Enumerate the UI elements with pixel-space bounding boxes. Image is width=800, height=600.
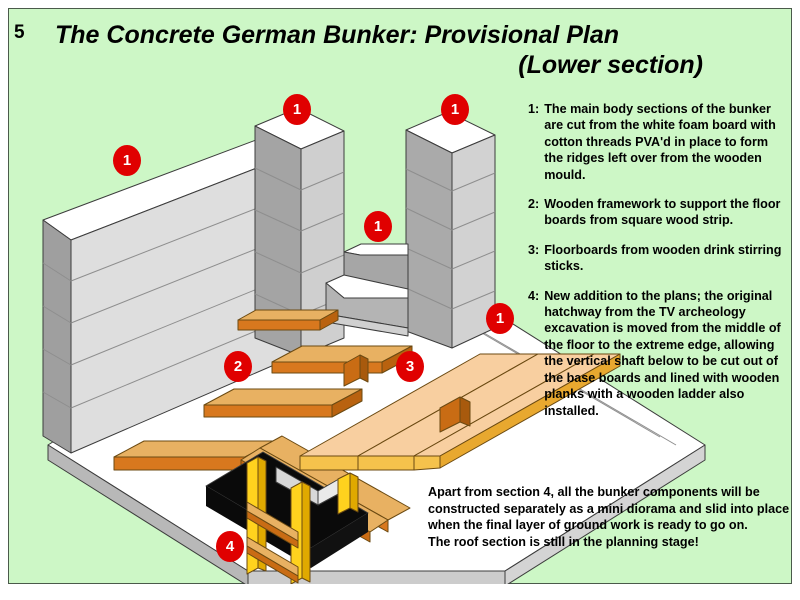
note-number-2: 2: bbox=[528, 196, 544, 229]
callout-badge-2-wooden-framework[interactable]: 2 bbox=[224, 351, 252, 382]
callout-badge-1-base-board[interactable]: 1 bbox=[486, 303, 514, 334]
callout-badge-1-left-wall[interactable]: 1 bbox=[113, 145, 141, 176]
notes-list: 1: The main body sections of the bunker … bbox=[528, 101, 790, 432]
note-item-4: 4: New addition to the plans; the origin… bbox=[528, 288, 790, 419]
callout-badge-4-hatchway[interactable]: 4 bbox=[216, 531, 244, 562]
note-item-2: 2: Wooden framework to support the floor… bbox=[528, 196, 790, 229]
note-text-4: New addition to the plans; the original … bbox=[544, 288, 790, 419]
note-text-3: Floorboards from wooden drink stirring s… bbox=[544, 242, 790, 275]
note-text-2: Wooden framework to support the floor bo… bbox=[544, 196, 790, 229]
note-number-1: 1: bbox=[528, 101, 544, 183]
callout-badge-3-floorboards[interactable]: 3 bbox=[396, 351, 424, 382]
footer-note: Apart from section 4, all the bunker com… bbox=[428, 484, 790, 550]
right-tower bbox=[406, 112, 495, 348]
note-text-1: The main body sections of the bunker are… bbox=[544, 101, 790, 183]
note-item-3: 3: Floorboards from wooden drink stirrin… bbox=[528, 242, 790, 275]
slide-canvas: 5 The Concrete German Bunker: Provisiona… bbox=[0, 0, 800, 600]
joist-stub bbox=[238, 310, 338, 330]
callout-badge-1-step-blocks[interactable]: 1 bbox=[364, 211, 392, 242]
note-number-3: 3: bbox=[528, 242, 544, 275]
callout-badge-1-left-tower[interactable]: 1 bbox=[283, 94, 311, 125]
note-number-4: 4: bbox=[528, 288, 544, 419]
callout-badge-1-right-tower[interactable]: 1 bbox=[441, 94, 469, 125]
note-item-1: 1: The main body sections of the bunker … bbox=[528, 101, 790, 183]
